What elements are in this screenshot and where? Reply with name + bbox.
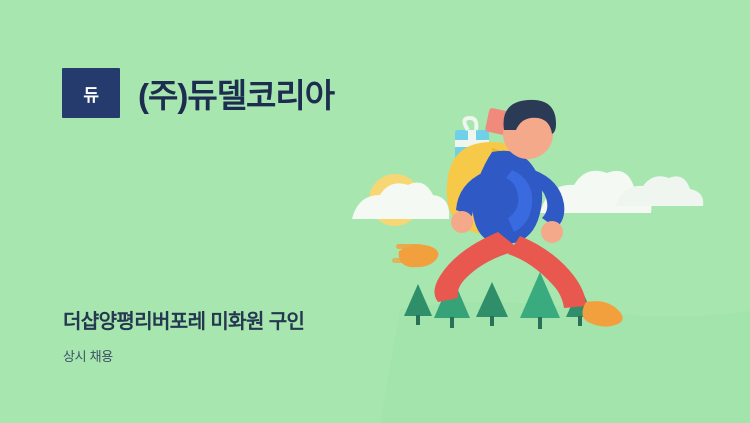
gift-box-icon (485, 108, 515, 137)
tree-icon (566, 286, 594, 326)
tree-icon (476, 282, 508, 326)
shoe-icon (397, 241, 440, 270)
gift-box-icon (468, 168, 498, 194)
pants (434, 232, 520, 302)
company-logo-badge: 듀 (62, 68, 120, 118)
tree-icon (520, 272, 560, 329)
tree-icon (404, 284, 432, 325)
job-banner-card: 듀 (주)듀델코리아 더샵양평리버포레 미화원 구인 상시 채용 (0, 0, 750, 423)
job-title: 더샵양평리버포레 미화원 구인 (63, 305, 304, 334)
job-info-block: 더샵양평리버포레 미화원 구인 상시 채용 (63, 305, 304, 365)
pants (508, 236, 586, 308)
company-name: (주)듀델코리아 (138, 69, 334, 117)
hair (504, 100, 557, 134)
cloud-icon (352, 183, 449, 219)
shoe-icon (582, 301, 622, 326)
job-status-label: 상시 채용 (63, 346, 304, 365)
tree-icon (434, 276, 470, 328)
shirt (472, 151, 542, 244)
company-logo-text: 듀 (83, 81, 98, 106)
hand (451, 211, 473, 233)
gift-box-icon (455, 118, 489, 160)
banner-header: 듀 (주)듀델코리아 (62, 68, 334, 118)
sun-icon (369, 174, 421, 226)
cloud-icon (616, 176, 703, 206)
hand (541, 221, 563, 243)
cloud-icon (540, 171, 651, 213)
head (503, 109, 553, 159)
backpack-icon (447, 142, 535, 235)
